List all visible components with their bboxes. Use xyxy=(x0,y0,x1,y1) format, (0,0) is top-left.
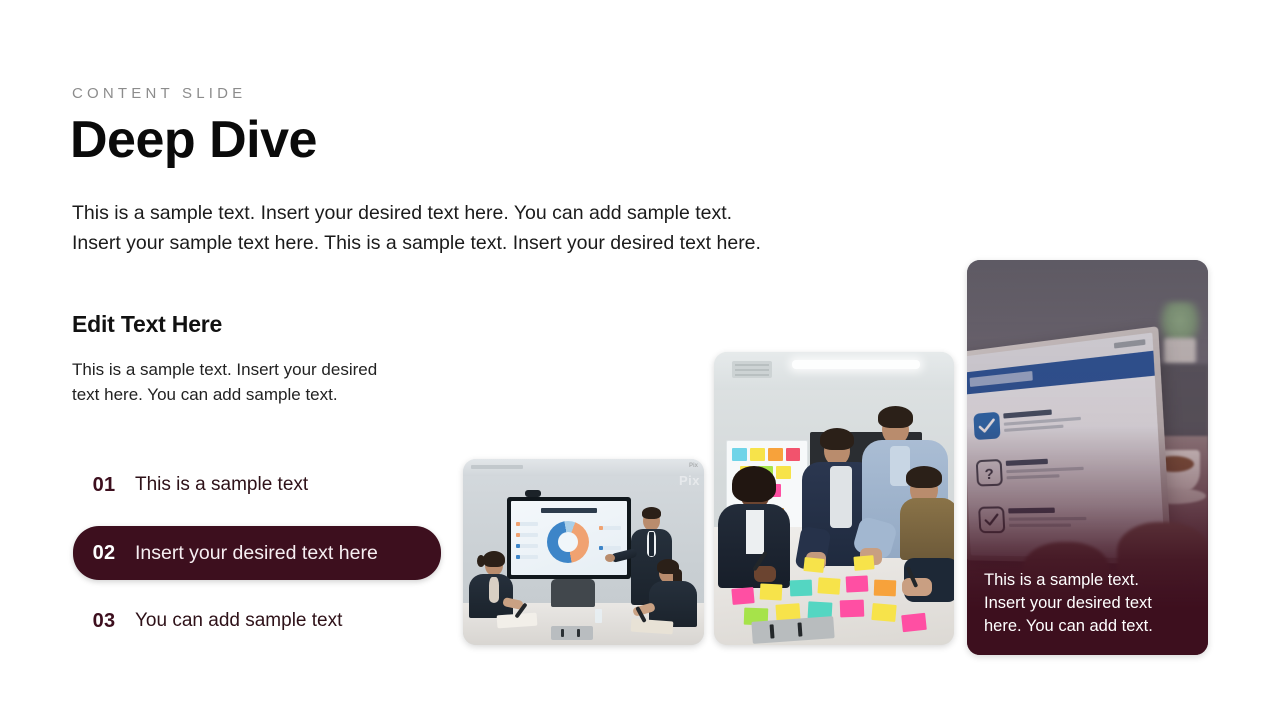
photo-laptop-checklist: ? This is a sample text. Insert your des… xyxy=(967,260,1208,655)
eyebrow-label: CONTENT SLIDE xyxy=(72,85,246,102)
list-item-03[interactable]: 03 You can add sample text xyxy=(73,598,441,644)
watermark-small: Pix xyxy=(689,463,698,469)
photo-brainstorm-session xyxy=(714,352,954,645)
caption-line-3: here. You can add text. xyxy=(984,615,1194,638)
intro-line-2: Insert your sample text here. This is a … xyxy=(72,228,932,258)
caption-line-1: This is a sample text. xyxy=(984,569,1194,592)
section-body-line-1: This is a sample text. Insert your desir… xyxy=(72,357,472,382)
list-item-label: This is a sample text xyxy=(135,474,308,496)
section-heading: Edit Text Here xyxy=(72,311,222,338)
image-card-brainstorm[interactable] xyxy=(714,352,954,645)
caption-line-2: Insert your desired text xyxy=(984,592,1194,615)
numbered-list: 01 This is a sample text 02 Insert your … xyxy=(73,462,441,644)
image-card-presentation[interactable]: Pix Pix xyxy=(463,459,704,645)
list-item-label: You can add sample text xyxy=(135,610,342,632)
intro-line-1: This is a sample text. Insert your desir… xyxy=(72,198,932,228)
list-item-02[interactable]: 02 Insert your desired text here xyxy=(73,526,441,580)
list-item-number: 01 xyxy=(73,474,135,497)
watermark: Pix xyxy=(679,473,700,488)
list-item-number: 02 xyxy=(73,542,135,565)
section-body: This is a sample text. Insert your desir… xyxy=(72,357,472,407)
list-item-01[interactable]: 01 This is a sample text xyxy=(73,462,441,508)
photo-presentation-meeting: Pix Pix xyxy=(463,459,704,645)
card-caption: This is a sample text. Insert your desir… xyxy=(984,569,1194,638)
list-item-label: Insert your desired text here xyxy=(135,542,378,565)
section-body-line-2: text here. You can add sample text. xyxy=(72,382,472,407)
image-card-laptop[interactable]: ? This is a sample text. Insert your des… xyxy=(967,260,1208,655)
intro-paragraph: This is a sample text. Insert your desir… xyxy=(72,198,932,258)
page-title: Deep Dive xyxy=(70,110,317,170)
list-item-number: 03 xyxy=(73,610,135,633)
